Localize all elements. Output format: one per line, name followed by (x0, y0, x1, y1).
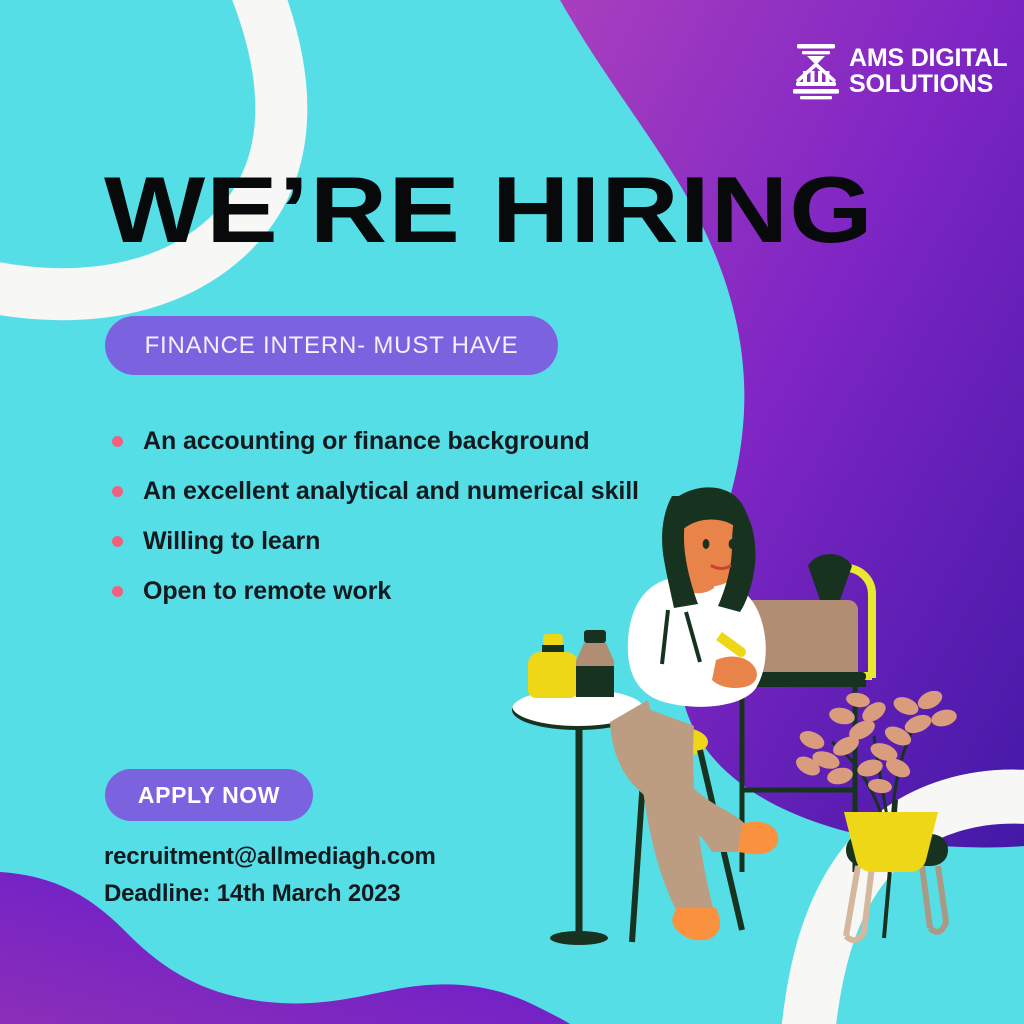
contact-block: recruitment@allmediagh.com Deadline: 14t… (104, 843, 436, 908)
recruitment-email-link[interactable]: recruitment@allmediagh.com (104, 843, 436, 871)
plant-pot (844, 812, 938, 872)
list-item: Open to remote work (112, 566, 712, 616)
shoe-front (672, 908, 720, 940)
yellow-bottle (528, 634, 578, 698)
bullet-dot-icon (112, 536, 123, 547)
role-badge-label: FINANCE INTERN- MUST HAVE (145, 332, 519, 360)
list-item: An excellent analytical and numerical sk… (112, 466, 712, 516)
dark-bottle (576, 630, 614, 697)
temple-building-icon (793, 42, 839, 100)
application-deadline: Deadline: 14th March 2023 (104, 880, 436, 908)
requirement-text: Willing to learn (143, 527, 320, 556)
brand-name-line1: AMS DIGITAL (849, 44, 1007, 72)
page-title: WE’RE HIRING (104, 163, 874, 257)
requirements-list: An accounting or finance background An e… (112, 416, 712, 616)
bullet-dot-icon (112, 586, 123, 597)
requirement-text: An accounting or finance background (143, 427, 590, 456)
shoe-back (738, 822, 778, 855)
brand-name: AMS DIGITAL SOLUTIONS (849, 45, 1007, 97)
requirement-text: An excellent analytical and numerical sk… (143, 477, 639, 506)
list-item: An accounting or finance background (112, 416, 712, 466)
bullet-dot-icon (112, 486, 123, 497)
role-badge: FINANCE INTERN- MUST HAVE (105, 316, 558, 375)
list-item: Willing to learn (112, 516, 712, 566)
brand-name-line2: SOLUTIONS (849, 71, 1007, 97)
requirement-text: Open to remote work (143, 577, 391, 606)
bullet-dot-icon (112, 436, 123, 447)
hiring-poster: AMS DIGITAL SOLUTIONS WE’RE HIRING FINAN… (0, 0, 1024, 1024)
eye-right (729, 539, 736, 549)
brand-logo[interactable]: AMS DIGITAL SOLUTIONS (793, 42, 1007, 100)
apply-now-button[interactable]: APPLY NOW (105, 769, 313, 821)
